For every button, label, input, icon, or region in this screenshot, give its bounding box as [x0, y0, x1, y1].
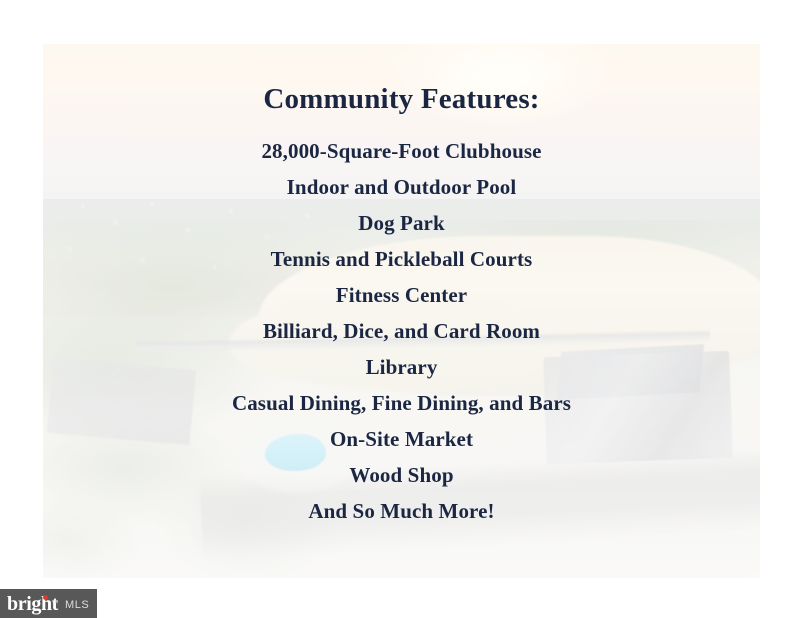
feature-item-library: Library	[43, 349, 760, 385]
page-title: Community Features:	[43, 82, 760, 116]
mls-label: MLS	[65, 599, 89, 611]
feature-item-more: And So Much More!	[43, 493, 760, 529]
features-text-overlay: Community Features: 28,000-Square-Foot C…	[43, 44, 760, 578]
community-features-list: 28,000-Square-Foot Clubhouse Indoor and …	[43, 133, 760, 529]
feature-item-clubhouse: 28,000-Square-Foot Clubhouse	[43, 133, 760, 169]
feature-item-fitness-center: Fitness Center	[43, 277, 760, 313]
trademark-symbol: ™	[51, 593, 57, 613]
bright-wordmark-text: bright	[7, 593, 58, 615]
feature-item-wood-shop: Wood Shop	[43, 457, 760, 493]
screenshot-canvas: Community Features: 28,000-Square-Foot C…	[0, 0, 800, 618]
bright-mls-watermark: bright ™ MLS	[0, 589, 97, 618]
feature-item-dining: Casual Dining, Fine Dining, and Bars	[43, 385, 760, 421]
feature-item-tennis-courts: Tennis and Pickleball Courts	[43, 241, 760, 277]
listing-photo: Community Features: 28,000-Square-Foot C…	[43, 44, 760, 578]
feature-item-dog-park: Dog Park	[43, 205, 760, 241]
feature-item-pool: Indoor and Outdoor Pool	[43, 169, 760, 205]
feature-item-card-room: Billiard, Dice, and Card Room	[43, 313, 760, 349]
bright-wordmark: bright ™	[7, 594, 58, 614]
bright-logo-dot-icon	[43, 595, 48, 600]
feature-item-market: On-Site Market	[43, 421, 760, 457]
